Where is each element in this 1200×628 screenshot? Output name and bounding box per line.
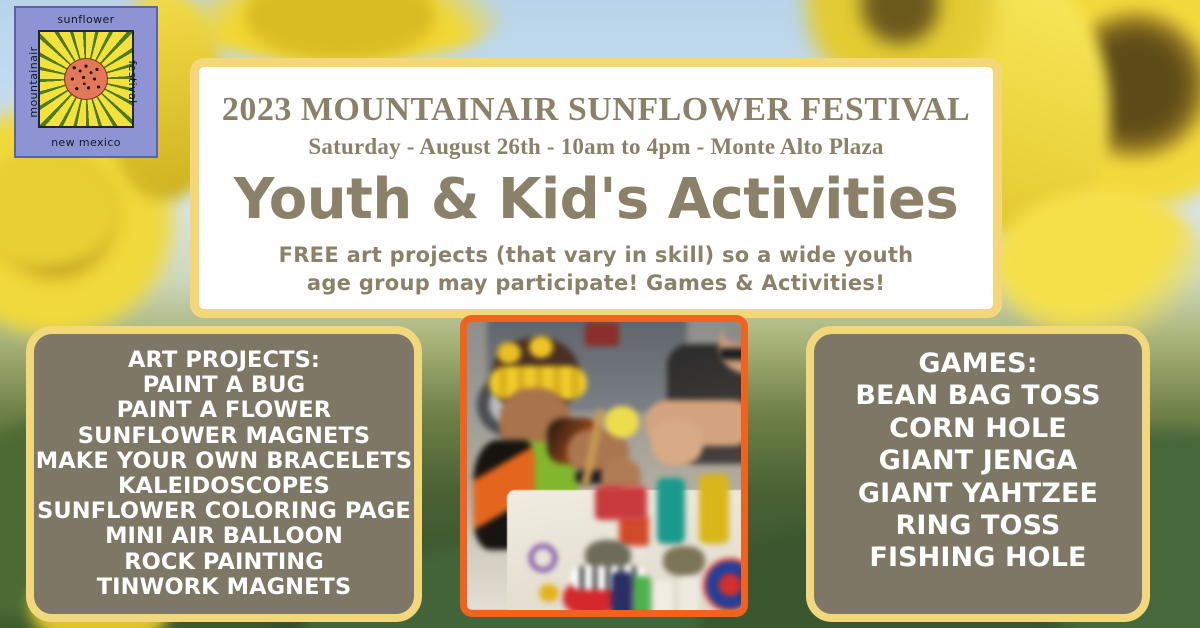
description-line-2: age group may participate! Games & Activ… bbox=[279, 270, 914, 298]
photo-adult-hair bbox=[723, 315, 748, 344]
list-item: ROCK PAINTING bbox=[124, 550, 324, 575]
photo-paint-bottle-yellow bbox=[699, 474, 729, 544]
list-item: SUNFLOWER COLORING PAGE bbox=[37, 499, 411, 524]
photo-child-headband-petal-a bbox=[497, 342, 521, 364]
art-projects-panel: ART PROJECTS: PAINT A BUG PAINT A FLOWER… bbox=[26, 326, 422, 622]
photo-car-taillight bbox=[585, 322, 619, 346]
photo-tape-rolls bbox=[703, 558, 748, 612]
list-item: PAINT A FLOWER bbox=[117, 398, 331, 423]
list-item: KALEIDOSCOPES bbox=[118, 474, 330, 499]
list-item: GIANT YAHTZEE bbox=[858, 478, 1098, 510]
list-item: GIANT JENGA bbox=[879, 445, 1078, 477]
festival-subtitle: Saturday - August 26th - 10am to 4pm - M… bbox=[308, 135, 883, 158]
photo-paint-bottle-teal bbox=[657, 478, 685, 544]
photo-paint-bottle-white-b bbox=[679, 578, 699, 617]
list-item: MINI AIR BALLOON bbox=[105, 524, 343, 549]
photo-glue-label bbox=[619, 516, 649, 546]
photo-child-headband-petal-b bbox=[529, 336, 553, 358]
list-item: SUNFLOWER MAGNETS bbox=[78, 424, 370, 449]
festival-logo[interactable]: sunflower festival mountainair new mexic… bbox=[16, 8, 156, 156]
logo-word-right: festival bbox=[126, 60, 139, 103]
description-text: FREE art projects (that vary in skill) s… bbox=[279, 242, 914, 297]
logo-word-bottom: new mexico bbox=[51, 136, 121, 149]
page-title: Youth & Kid's Activities bbox=[234, 172, 958, 228]
description-line-1: FREE art projects (that vary in skill) s… bbox=[279, 242, 914, 270]
logo-word-left: mountainair bbox=[27, 46, 40, 117]
logo-artwork bbox=[38, 30, 134, 128]
photo-adult-glasses-icon bbox=[719, 348, 748, 360]
photo-adult-hand bbox=[651, 420, 703, 466]
list-item: CORN HOLE bbox=[889, 413, 1067, 445]
header-card: 2023 MOUNTAINAIR SUNFLOWER FESTIVAL Satu… bbox=[190, 58, 1002, 318]
logo-sunflower-center-icon bbox=[64, 58, 108, 100]
photo-paint-bottle-green bbox=[631, 576, 651, 617]
games-panel: GAMES: BEAN BAG TOSS CORN HOLE GIANT JEN… bbox=[806, 326, 1150, 622]
list-item: TINWORK MAGNETS bbox=[97, 575, 352, 600]
photo-paint-dab-yellow bbox=[539, 584, 559, 602]
festival-title: 2023 MOUNTAINAIR SUNFLOWER FESTIVAL bbox=[222, 93, 970, 127]
photo-child-wrist-scrunchie bbox=[605, 406, 639, 438]
list-item: FISHING HOLE bbox=[869, 542, 1086, 574]
background-petal-right-b bbox=[995, 190, 1200, 340]
photo-pipe-cleaner-purple bbox=[529, 544, 557, 572]
photo-paint-bottle-white-a bbox=[653, 580, 673, 617]
art-projects-heading: ART PROJECTS: bbox=[128, 348, 320, 373]
list-item: PAINT A BUG bbox=[143, 373, 305, 398]
games-heading: GAMES: bbox=[918, 348, 1037, 380]
photo-rock-brown bbox=[663, 546, 705, 576]
list-item: MAKE YOUR OWN BRACELETS bbox=[36, 449, 412, 474]
logo-word-top: sunflower bbox=[57, 13, 114, 26]
photo-paint-tray-red bbox=[595, 486, 647, 520]
photo-paint-bottle-navy bbox=[611, 572, 633, 617]
list-item: BEAN BAG TOSS bbox=[855, 380, 1100, 412]
list-item: RING TOSS bbox=[896, 510, 1061, 542]
kids-art-activity-photo bbox=[460, 315, 748, 617]
festival-poster: sunflower festival mountainair new mexic… bbox=[0, 0, 1200, 628]
